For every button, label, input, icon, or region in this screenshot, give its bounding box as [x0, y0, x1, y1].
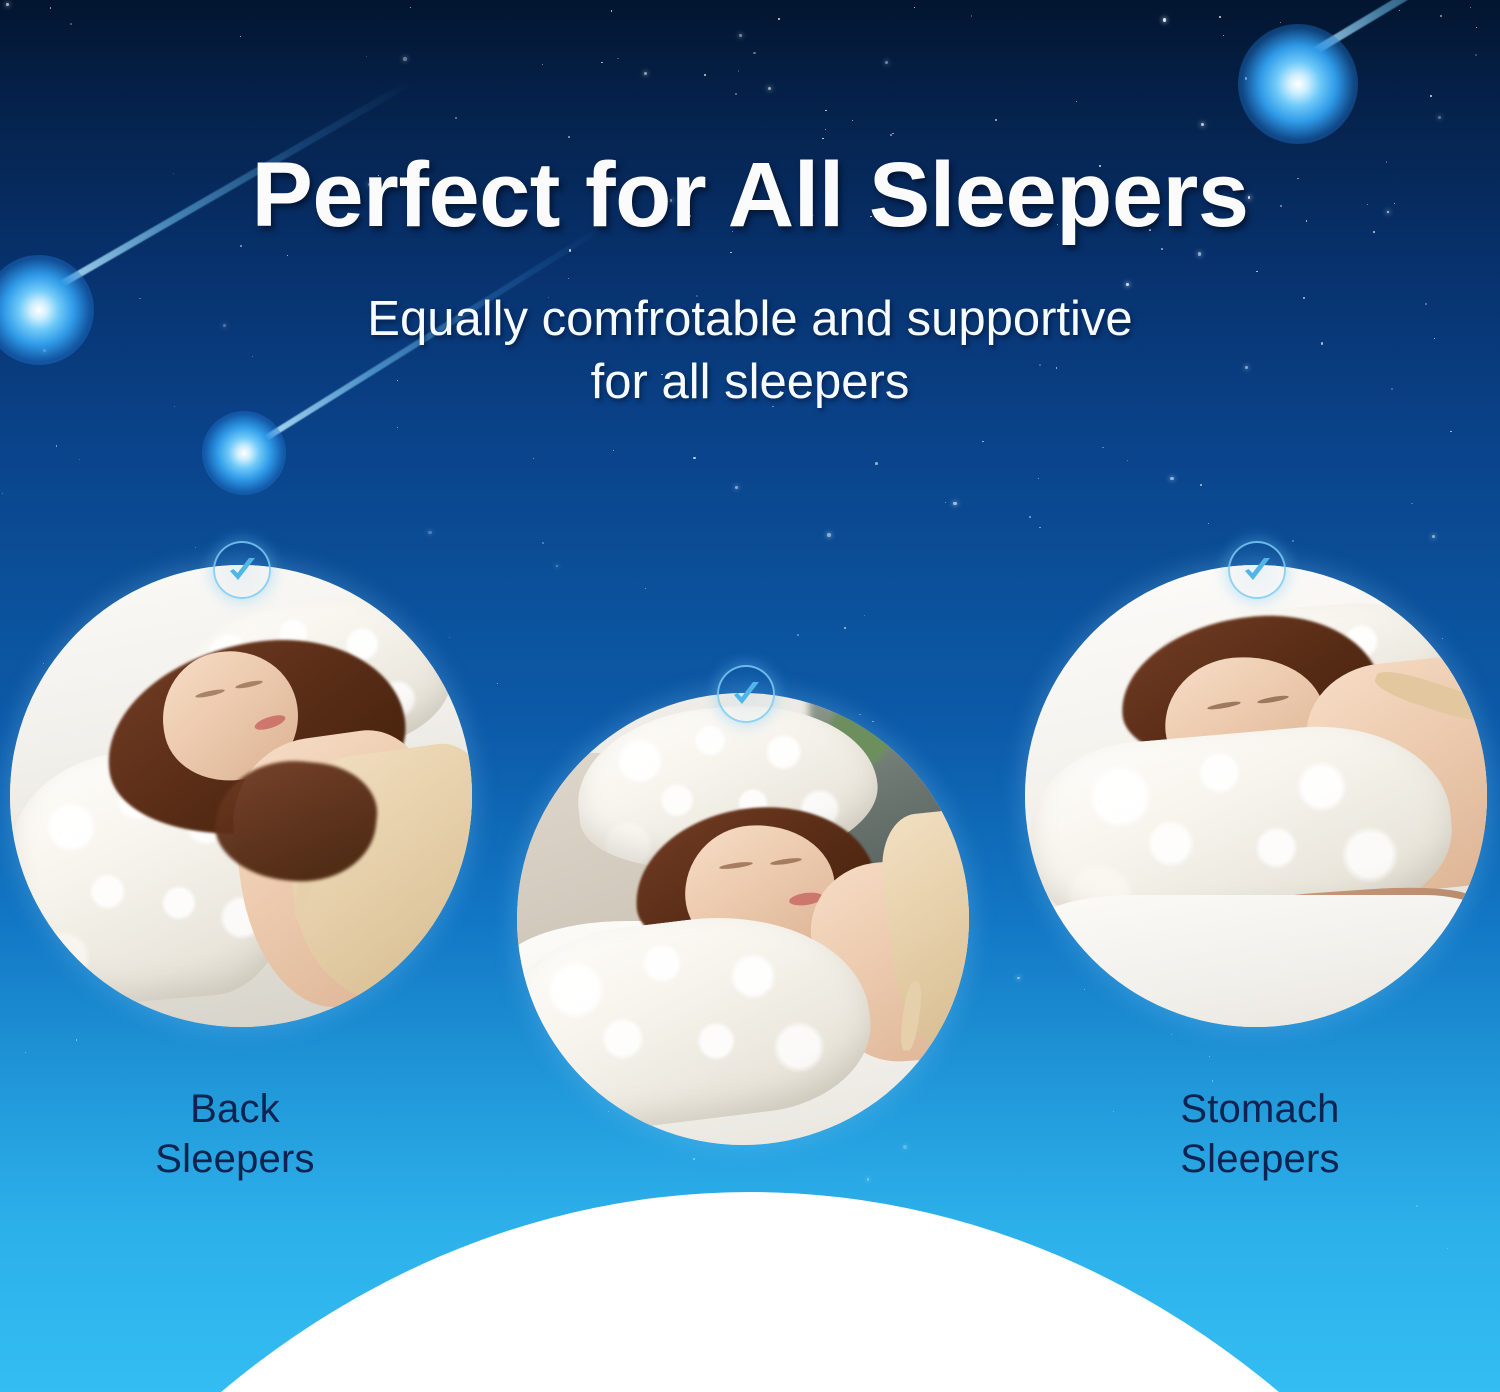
caption-back-line-2: Sleepers — [0, 1135, 470, 1185]
photo-stomach-scene — [1025, 565, 1487, 1027]
infographic-stage: Perfect for All Sleepers Equally comfrot… — [0, 0, 1500, 1392]
caption-stomach-sleepers: Stomach Sleepers — [1025, 1085, 1495, 1184]
photo-side-sleeper — [517, 693, 969, 1145]
check-badge-stomach — [1228, 541, 1286, 599]
check-icon — [727, 675, 765, 713]
caption-stomach-line-2: Sleepers — [1025, 1135, 1495, 1185]
check-icon — [1238, 551, 1276, 589]
photo-back-sleeper — [10, 565, 472, 1027]
sleeper-card-stomach: Stomach Sleepers — [1015, 545, 1495, 1205]
sleeper-card-back: Back Sleepers — [0, 545, 480, 1205]
caption-back-sleepers: Back Sleepers — [0, 1085, 470, 1184]
caption-back-line-1: Back — [0, 1085, 470, 1135]
photo-back-scene — [10, 565, 472, 1027]
subtitle-line-2: for all sleepers — [0, 351, 1500, 414]
page-subtitle: Equally comfrotable and supportive for a… — [0, 288, 1500, 413]
check-badge-back — [213, 541, 271, 599]
subtitle-line-1: Equally comfrotable and supportive — [0, 288, 1500, 351]
check-badge-side — [717, 665, 775, 723]
photo-side-scene — [517, 693, 969, 1145]
caption-stomach-line-1: Stomach — [1025, 1085, 1495, 1135]
photo-stomach-sleeper — [1025, 565, 1487, 1027]
stomach-duvet — [1025, 895, 1487, 1027]
page-title: Perfect for All Sleepers — [0, 148, 1500, 244]
check-icon — [223, 551, 261, 589]
